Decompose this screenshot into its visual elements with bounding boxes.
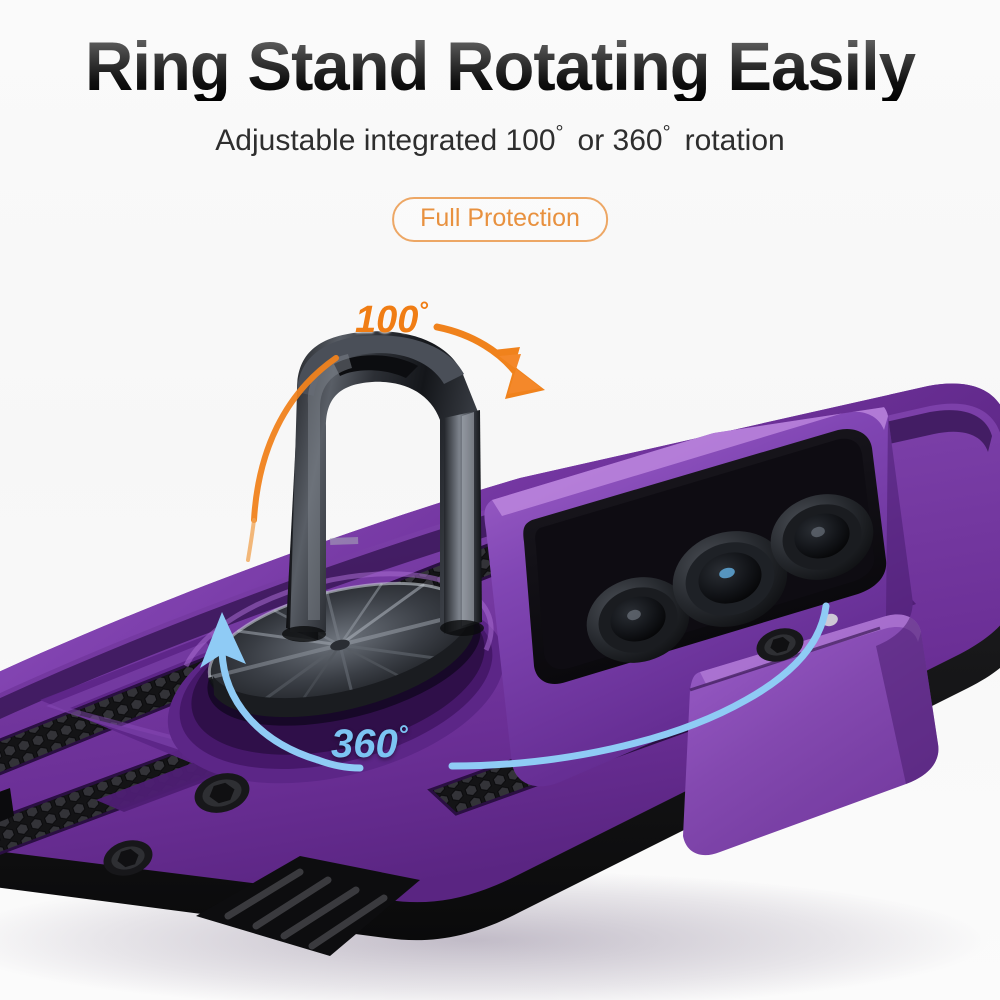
page-title: Ring Stand Rotating Easily: [15, 32, 985, 101]
subtitle-middle: or 360: [578, 124, 663, 157]
tilt-angle-value: 100: [355, 299, 418, 341]
rotate-angle-value: 360: [331, 722, 398, 766]
degree-symbol-2: °: [663, 122, 671, 144]
tilt-degree-symbol: °: [418, 297, 428, 324]
subtitle-prefix: Adjustable integrated 100: [215, 124, 555, 157]
product-marketing-image: Ring Stand Rotating Easily Adjustable in…: [0, 0, 1000, 1000]
rotate-angle-label: 360°: [331, 722, 408, 767]
subtitle-suffix: rotation: [685, 124, 785, 157]
rotate-degree-symbol: °: [398, 721, 408, 749]
tilt-angle-label: 100°: [355, 299, 428, 342]
page-subtitle: Adjustable integrated 100°or 360°rotatio…: [0, 124, 1000, 158]
full-protection-badge: Full Protection: [392, 197, 608, 242]
degree-symbol-1: °: [556, 122, 564, 144]
